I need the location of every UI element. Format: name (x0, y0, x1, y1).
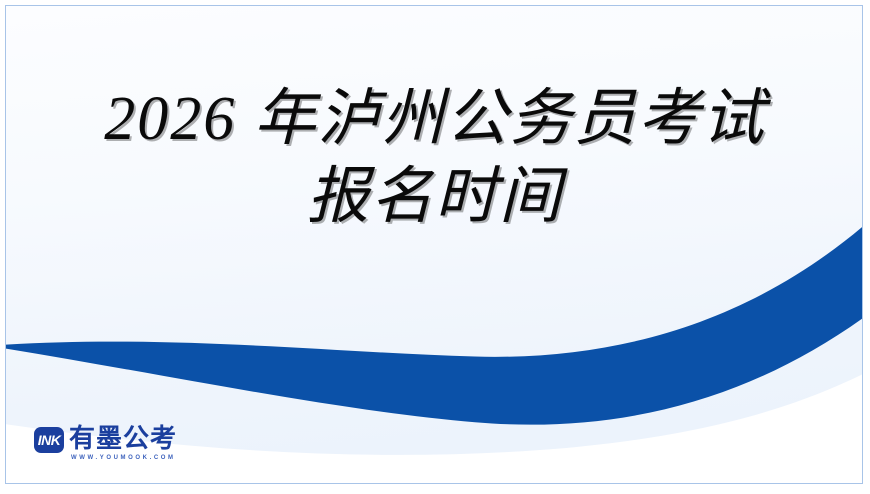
ink-badge-icon: INK (34, 427, 64, 453)
title-line-2: 报名时间 (6, 158, 863, 236)
wave-decoration (6, 6, 862, 483)
title-line-1: 2026 年泸州公务员考试 (6, 80, 863, 158)
wave-band-primary (6, 227, 862, 425)
banner-frame: 2026 年泸州公务员考试 报名时间 INK 有墨公考 WWW.YOUMOOK.… (5, 5, 863, 484)
brand-logo: INK 有墨公考 WWW.YOUMOOK.COM (34, 426, 177, 462)
brand-website: WWW.YOUMOOK.COM (71, 454, 177, 462)
brand-name: 有墨公考 (69, 426, 177, 453)
page-title: 2026 年泸州公务员考试 报名时间 (6, 80, 863, 236)
banner-image: 2026 年泸州公务员考试 报名时间 INK 有墨公考 WWW.YOUMOOK.… (0, 0, 870, 494)
logo-text-group: 有墨公考 WWW.YOUMOOK.COM (69, 426, 177, 462)
